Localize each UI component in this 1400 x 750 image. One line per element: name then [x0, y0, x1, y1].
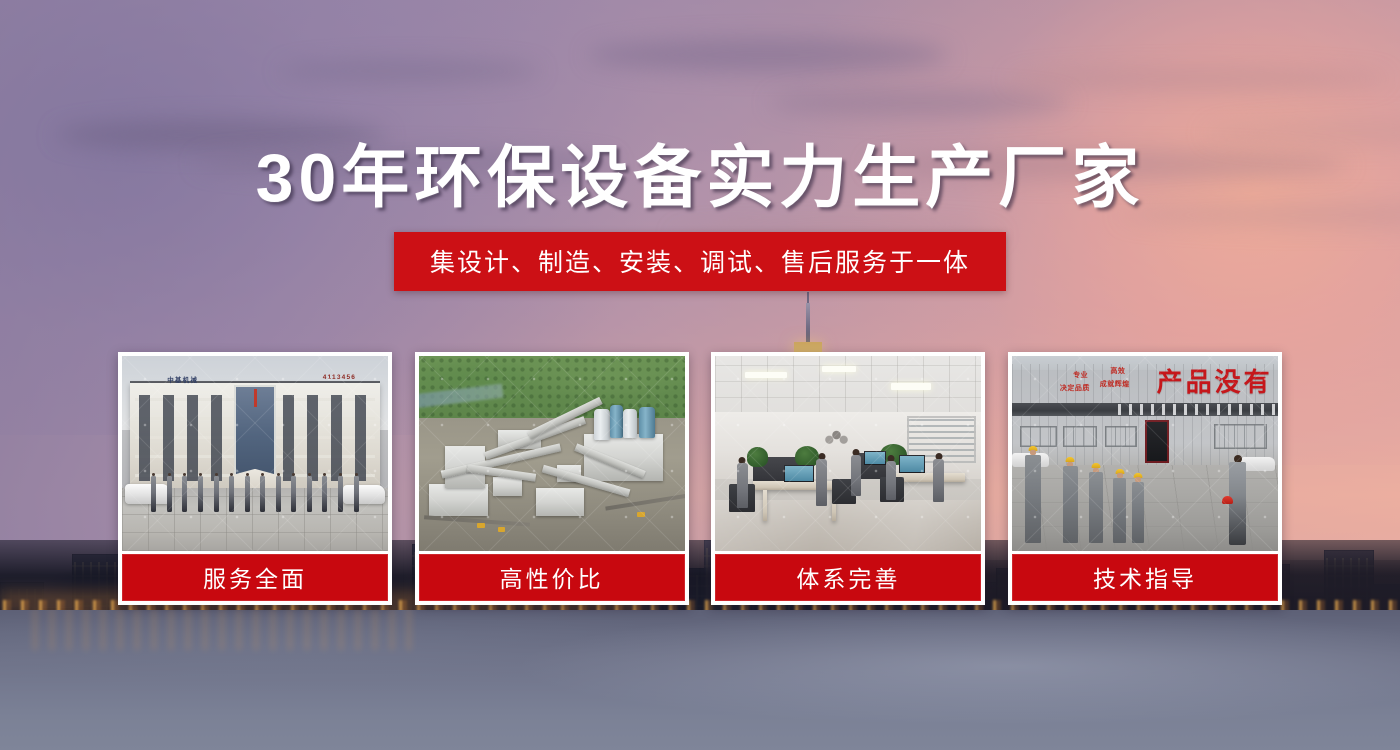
workshop-slogan-small-3: 决定品质	[1060, 385, 1090, 394]
card-photo-production-plant	[419, 356, 685, 551]
water-light-reflection	[28, 608, 420, 650]
promo-banner: 30年环保设备实力生产厂家 集设计、制造、安装、调试、售后服务于一体 中基机械 …	[0, 0, 1400, 750]
staff-line	[151, 473, 359, 512]
card-label: 服务全面	[122, 554, 388, 601]
feature-card[interactable]: 产品没有 专业 决定品质 高效 成就辉煌	[1008, 352, 1282, 605]
workshop-slogan: 产品没有	[1157, 362, 1273, 399]
feature-card[interactable]: 中基机械 4113456 服务全面	[118, 352, 392, 605]
feature-card[interactable]: 高性价比	[415, 352, 689, 605]
card-photo-office-building: 中基机械 4113456	[122, 356, 388, 551]
feature-card[interactable]: 体系完善	[711, 352, 985, 605]
building-phone-text: 4113456	[323, 374, 356, 381]
card-label: 体系完善	[715, 554, 981, 601]
card-label: 技术指导	[1012, 554, 1278, 601]
card-photo-office-interior	[715, 356, 981, 551]
supervisor-figure	[1229, 455, 1246, 545]
workshop-slogan-small-4: 成就辉煌	[1100, 381, 1130, 390]
page-title: 30年环保设备实力生产厂家	[0, 122, 1400, 221]
subtitle-bar-wrap: 集设计、制造、安装、调试、售后服务于一体	[0, 232, 1400, 291]
wall-decal	[814, 418, 859, 449]
workshop-slogan-small-2: 高效	[1110, 368, 1125, 377]
workshop-slogan-small-1: 专业	[1073, 372, 1088, 381]
building-sign-text: 中基机械	[167, 374, 198, 384]
subtitle-bar: 集设计、制造、安装、调试、售后服务于一体	[394, 232, 1006, 291]
card-photo-workshop-briefing: 产品没有 专业 决定品质 高效 成就辉煌	[1012, 356, 1278, 551]
feature-card-row: 中基机械 4113456 服务全面	[118, 352, 1282, 605]
card-label: 高性价比	[419, 554, 685, 601]
